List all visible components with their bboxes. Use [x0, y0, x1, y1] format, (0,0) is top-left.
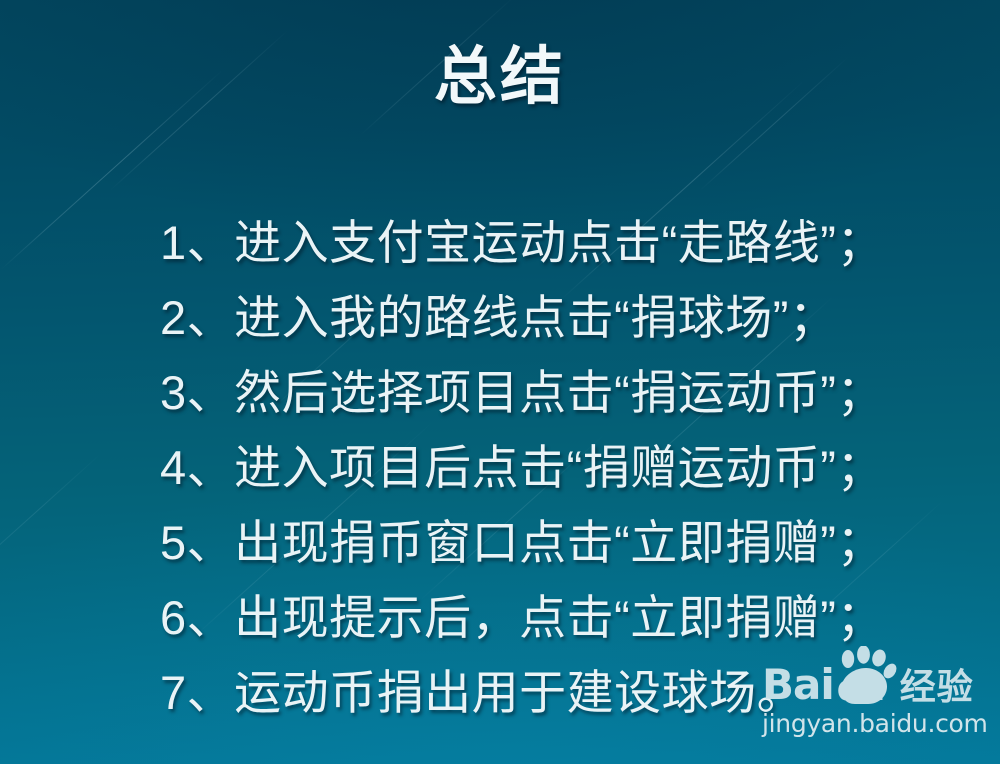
baidu-logo-du-text: du	[837, 672, 886, 706]
list-item: 3、然后选择项目点击“捐运动币”；	[160, 355, 884, 430]
baidu-logo-bai-text: Bai	[762, 664, 834, 706]
baidu-jingyan-watermark: Bai du 经验 jingyan.baidu.com	[762, 648, 992, 738]
list-item: 2、进入我的路线点击“捐球场”；	[160, 280, 836, 355]
list-item: 4、进入项目后点击“捐赠运动币”；	[160, 430, 884, 505]
list-item: 5、出现捐币窗口点击“立即捐赠”；	[160, 505, 884, 580]
list-item: 6、出现提示后，点击“立即捐赠”；	[160, 580, 884, 655]
baidu-paw-mark: du	[835, 648, 897, 706]
slide-canvas: 总结 1、进入支付宝运动点击“走路线”； 2、进入我的路线点击“捐球场”； 3、…	[0, 0, 1000, 764]
baidu-logo: Bai du 经验	[762, 648, 992, 706]
baidu-logo-jingyan-text: 经验	[900, 668, 974, 706]
list-item: 1、进入支付宝运动点击“走路线”；	[160, 205, 884, 280]
watermark-url: jingyan.baidu.com	[762, 709, 992, 738]
page-title: 总结	[0, 44, 1000, 110]
list-item: 7、运动币捐出用于建设球场。	[160, 655, 804, 730]
